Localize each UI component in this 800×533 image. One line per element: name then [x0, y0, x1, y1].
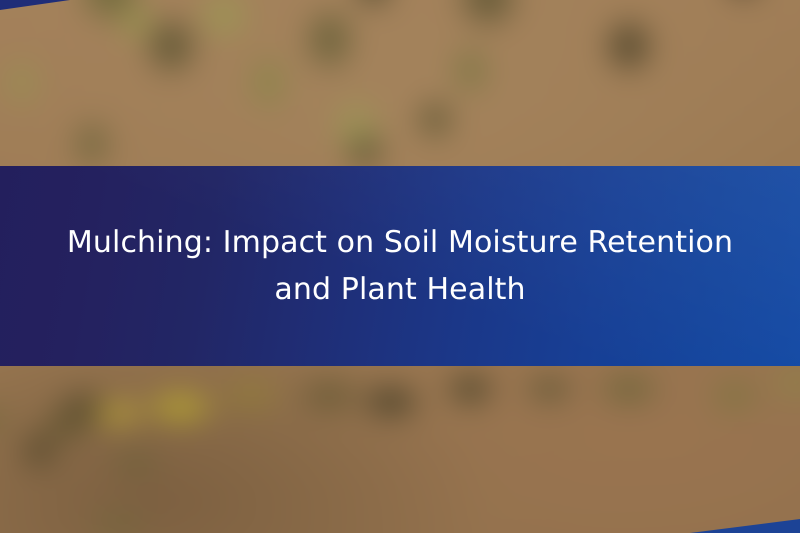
- hero-banner-screenshot: Mulching: Impact on Soil Moisture Retent…: [0, 0, 800, 533]
- title-banner: Mulching: Impact on Soil Moisture Retent…: [0, 166, 800, 366]
- page-title-line-2: and Plant Health: [274, 272, 525, 307]
- page-title: Mulching: Impact on Soil Moisture Retent…: [50, 219, 750, 313]
- page-title-line-1: Mulching: Impact on Soil Moisture Retent…: [67, 225, 733, 260]
